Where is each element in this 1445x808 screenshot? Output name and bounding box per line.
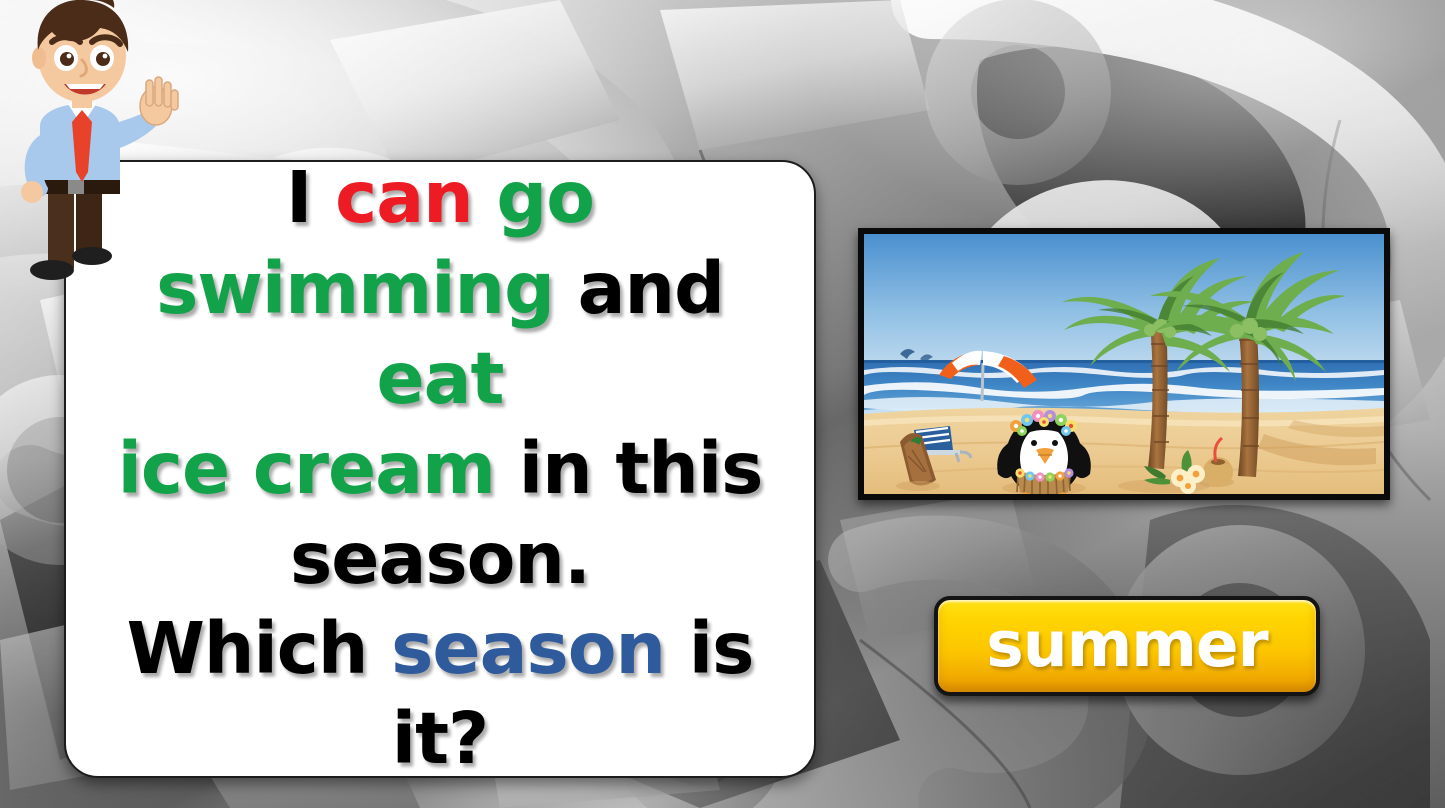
question-word-can: can xyxy=(335,156,496,239)
answer-button-summer[interactable]: summer xyxy=(934,596,1320,696)
question-word-it: it? xyxy=(392,697,488,780)
beach-scene-image xyxy=(858,228,1390,500)
question-word-is: is xyxy=(689,607,754,690)
question-word-i: I xyxy=(286,156,335,239)
question-word-go: go xyxy=(496,156,594,239)
question-word-swimming: swimming xyxy=(156,247,578,330)
answer-button-label: summer xyxy=(986,613,1267,676)
question-word-season: season xyxy=(391,607,689,690)
question-word-season-period: season. xyxy=(290,517,590,600)
question-word-ice-cream: ice cream xyxy=(118,427,519,510)
question-word-in-this: in this xyxy=(519,427,763,510)
question-word-which: Which xyxy=(127,607,392,690)
slide-canvas: I can go swimming and eat ice cream in t… xyxy=(0,0,1445,808)
mascot-businessman-waving xyxy=(0,0,186,294)
question-word-and: and xyxy=(578,247,724,330)
beach-scene-illustration xyxy=(864,234,1384,494)
question-word-eat: eat xyxy=(376,337,503,420)
